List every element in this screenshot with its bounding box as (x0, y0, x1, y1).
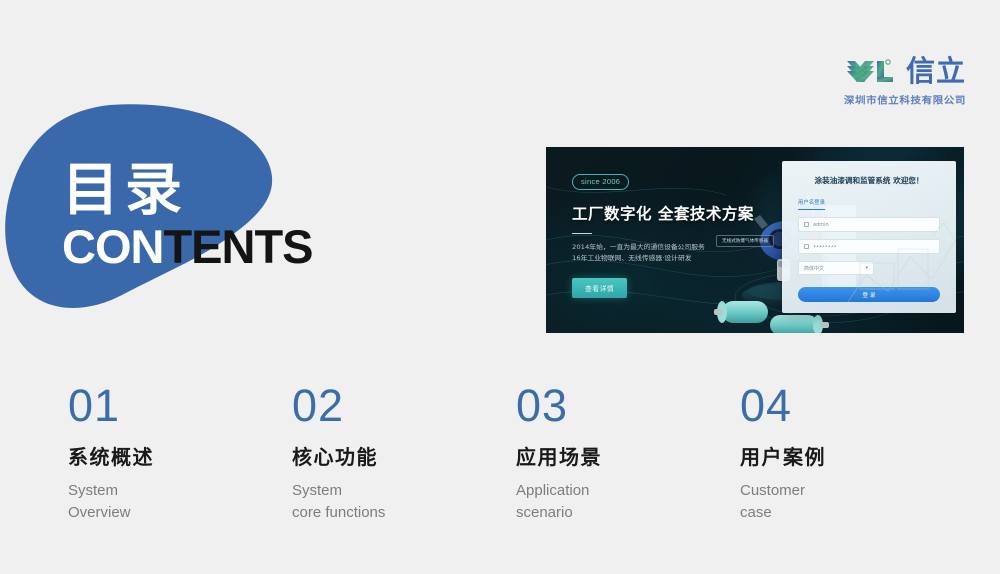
contents-item-04[interactable]: 04 用户案例 Customer case (740, 382, 964, 524)
product-banner-image: since 2006 工厂数字化 全套技术方案 2014年始，一直为最大的通信设… (546, 147, 964, 333)
section-number: 01 (68, 382, 292, 430)
title-en-white: CON (62, 220, 163, 273)
section-en-line2: scenario (516, 502, 740, 524)
section-en-line2: core functions (292, 502, 516, 524)
section-title-en: System core functions (292, 480, 516, 524)
section-number: 03 (516, 382, 740, 430)
section-title-en: Application scenario (516, 480, 740, 524)
panel-watermark (836, 209, 956, 313)
section-en-line2: case (740, 502, 964, 524)
section-en-line1: System (292, 480, 516, 502)
lock-icon (804, 244, 809, 249)
title-en: CONTENTS (62, 220, 402, 274)
login-password-value: •••••••• (813, 244, 837, 250)
logo-brand-cn: 信立 (906, 56, 966, 87)
section-title-en: System Overview (68, 480, 292, 524)
section-title-cn: 应用场景 (516, 444, 740, 470)
login-tab[interactable]: 用户名登录 (798, 198, 825, 210)
section-title-en: Customer case (740, 480, 964, 524)
section-en-line1: System (68, 480, 292, 502)
logo-subtitle: 深圳市信立科技有限公司 (844, 94, 966, 108)
section-en-line2: Overview (68, 502, 292, 524)
section-en-line1: Customer (740, 480, 964, 502)
section-en-line1: Application (516, 480, 740, 502)
title-cn: 目录 (62, 158, 402, 222)
section-title-cn: 核心功能 (292, 444, 516, 470)
section-title-cn: 用户案例 (740, 444, 964, 470)
title-en-dark: TENTS (163, 220, 312, 273)
contents-sections: 01 系统概述 System Overview 02 核心功能 System c… (68, 382, 1000, 524)
section-number: 04 (740, 382, 964, 430)
banner-cta-button[interactable]: 查看详情 (572, 278, 627, 298)
section-number: 02 (292, 382, 516, 430)
user-icon (804, 222, 809, 227)
contents-item-03[interactable]: 03 应用场景 Application scenario (516, 382, 740, 524)
login-screen-preview: 涂装油漆调和监管系统 欢迎您！ 用户名登录 admin •••••••• 简体中… (782, 161, 956, 313)
device-callout-label: 无线式防爆气体传感器 (716, 235, 774, 247)
contents-item-01[interactable]: 01 系统概述 System Overview (68, 382, 292, 524)
contents-item-02[interactable]: 02 核心功能 System core functions (292, 382, 516, 524)
xl-monogram-icon (846, 56, 902, 88)
login-title: 涂装油漆调和监管系统 欢迎您！ (782, 175, 956, 186)
since-badge: since 2006 (572, 174, 629, 190)
login-username-value: admin (813, 222, 829, 228)
company-logo: 信立 深圳市信立科技有限公司 (826, 56, 966, 112)
section-title-cn: 系统概述 (68, 444, 292, 470)
login-language-value: 简体中文 (804, 265, 824, 272)
slide-title: 目录 CONTENTS (62, 158, 402, 274)
logo-mark-row: 信立 (846, 56, 966, 90)
banner-divider (572, 233, 592, 235)
